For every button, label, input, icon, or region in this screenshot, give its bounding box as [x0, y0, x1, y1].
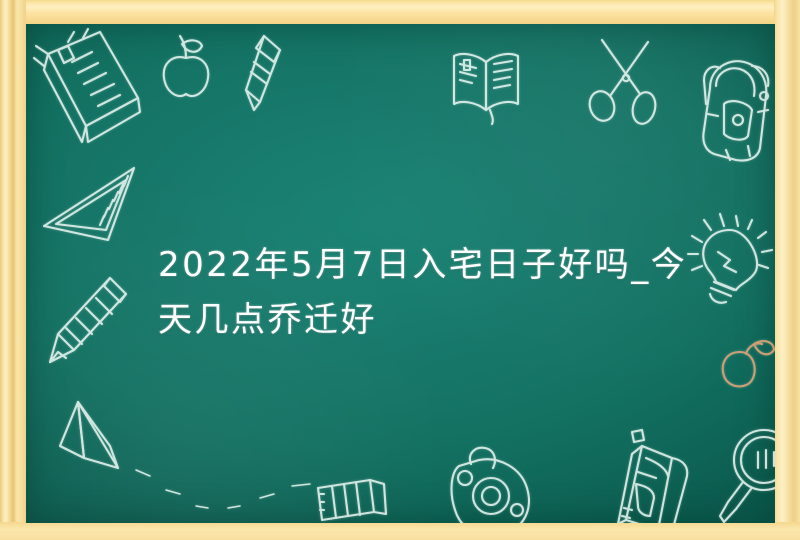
crayon-doodle [236, 32, 292, 114]
magnifier-doodle [718, 422, 775, 523]
frame-right-edge [774, 0, 800, 540]
pencil-doodle [46, 272, 134, 372]
apple-doodle [156, 32, 216, 104]
orange-fruit-doodle [716, 334, 775, 392]
backpack-doodle [690, 52, 775, 167]
eraser-doodle [314, 476, 390, 523]
chalkboard-surface: 2022年5月7日入宅日子好吗_今天几点乔迁好 [26, 24, 775, 523]
camera-doodle [441, 436, 541, 523]
scissors-doodle [586, 36, 666, 128]
page-title: 2022年5月7日入宅日子好吗_今天几点乔迁好 [158, 238, 718, 348]
chalkboard-banner: 2022年5月7日入宅日子好吗_今天几点乔迁好 [0, 0, 800, 540]
notebook-doodle [28, 26, 158, 161]
stapler-doodle [598, 424, 708, 523]
frame-left-edge [0, 0, 26, 540]
frame-bottom-edge [0, 522, 800, 540]
triangle-ruler-doodle [38, 164, 158, 254]
open-book-doodle [446, 46, 530, 126]
